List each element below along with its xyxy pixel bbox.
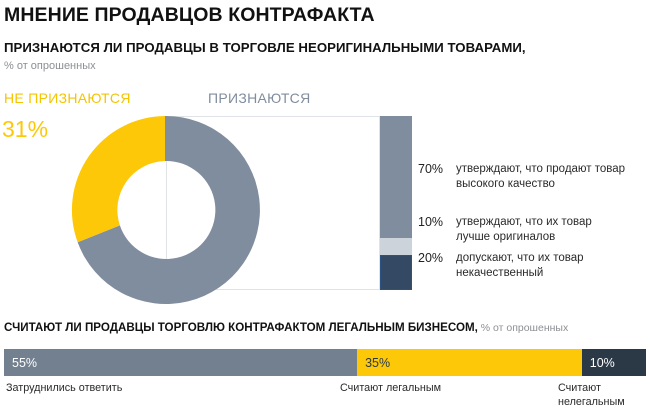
donut-chart-svg: [63, 108, 267, 312]
hbar-segment-undecided: 55%: [4, 349, 357, 376]
legend-text: допускают, что их товар некачественный: [456, 251, 584, 281]
legend-item-high-quality: 70% утверждают, что продают товар высоко…: [418, 162, 625, 192]
hbar-caption-illegal: Считают нелегальным: [558, 381, 625, 409]
donut-chart: [63, 108, 267, 312]
hbar-percent: 55%: [4, 356, 37, 370]
vbar-segment-better-than-original: [380, 238, 412, 255]
hbar-segment-legal: 35%: [357, 349, 582, 376]
donut-value-not-admit: 31%: [2, 116, 48, 143]
hbar-caption-undecided: Затруднились ответить: [6, 381, 122, 395]
hbar-segment-illegal: 10%: [582, 349, 646, 376]
legend-text: утверждают, что продают товар высокого к…: [456, 162, 625, 192]
donut-label-not-admit: НЕ ПРИЗНАЮТСЯ: [4, 90, 131, 106]
section-subtitle: ПРИЗНАЮТСЯ ЛИ ПРОДАВЦЫ В ТОРГОВЛЕ НЕОРИГ…: [4, 40, 526, 55]
vbar-segment-high-quality: [380, 116, 412, 238]
vertical-stacked-bar: [380, 116, 412, 290]
legend-percent: 10%: [418, 215, 456, 245]
donut-label-admit: ПРИЗНАЮТСЯ: [208, 90, 311, 106]
donut-slice-not-admit: [72, 116, 165, 242]
legend-item-better-than-original: 10% утверждают, что их товар лучше ориги…: [418, 215, 592, 245]
bottom-section-title-text: СЧИТАЮТ ЛИ ПРОДАВЦЫ ТОРГОВЛЮ КОНТРАФАКТО…: [4, 321, 478, 334]
legend-percent: 20%: [418, 251, 456, 281]
section-subtitle-note: % от опрошенных: [4, 60, 96, 72]
hbar-percent: 10%: [582, 356, 615, 370]
legend-text: утверждают, что их товар лучше оригинало…: [456, 215, 592, 245]
legend-percent: 70%: [418, 162, 456, 192]
hbar-percent: 35%: [357, 356, 390, 370]
horizontal-stacked-bar: 55% 35% 10%: [4, 349, 646, 376]
page-title: МНЕНИЕ ПРОДАВЦОВ КОНТРАФАКТА: [4, 4, 375, 27]
hbar-caption-legal: Считают легальным: [340, 381, 441, 395]
bottom-section-title-note: % от опрошенных: [478, 322, 568, 334]
legend-item-low-quality: 20% допускают, что их товар некачественн…: [418, 251, 584, 281]
vbar-segment-low-quality: [380, 255, 412, 290]
bottom-section-title: СЧИТАЮТ ЛИ ПРОДАВЦЫ ТОРГОВЛЮ КОНТРАФАКТО…: [4, 321, 568, 334]
